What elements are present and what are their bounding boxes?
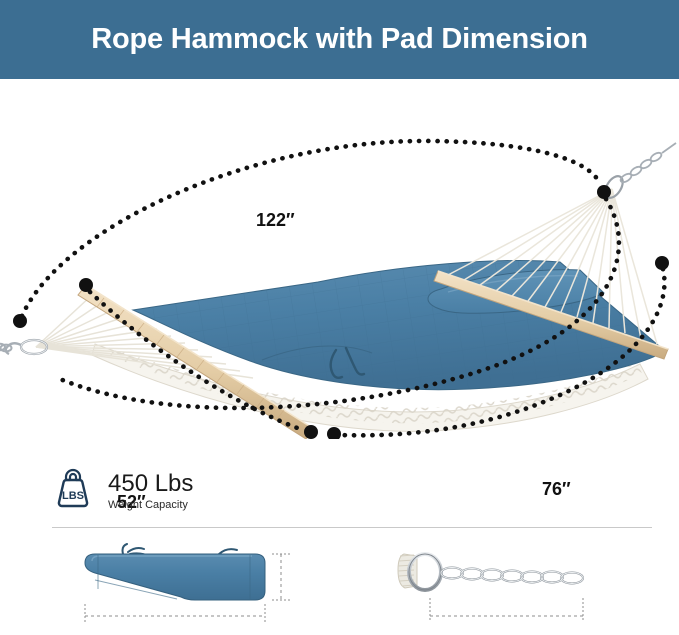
weight-capacity-text: 450 Lbs Weight Capacity	[108, 472, 193, 511]
header-banner: Rope Hammock with Pad Dimension	[0, 0, 679, 79]
dim-endpoint-dot	[655, 256, 669, 270]
bottom-items-row: 40″ 8.5″ 14″	[0, 528, 679, 635]
weight-capacity-caption: Weight Capacity	[108, 500, 193, 511]
dim-endpoint-dot	[79, 278, 93, 292]
hammock-graphic	[0, 79, 679, 439]
weight-icon-text: LBS	[62, 490, 84, 502]
weight-capacity-block: LBS 450 Lbs Weight Capacity	[52, 466, 193, 517]
bottom-items-graphic	[0, 528, 679, 635]
dim-endpoint-dot	[327, 427, 341, 439]
dim-endpoint-dot	[304, 425, 318, 439]
weight-capacity-value: 450 Lbs	[108, 472, 193, 496]
page-title: Rope Hammock with Pad Dimension	[91, 23, 588, 56]
weight-lbs-icon: LBS	[52, 466, 94, 517]
dimension-label-length: 122″	[256, 210, 295, 231]
chain-graphic	[398, 554, 583, 590]
dim-endpoint-dot	[13, 314, 27, 328]
infographic-page: Rope Hammock with Pad Dimension	[0, 0, 679, 635]
bolster-pillow-graphic	[85, 544, 265, 600]
hammock-illustration: 122″ 52″ 76″	[0, 79, 679, 439]
dim-endpoint-dot	[597, 185, 611, 199]
chain-dimension-guides	[430, 598, 583, 620]
dimension-label-pad-length: 76″	[542, 479, 571, 500]
